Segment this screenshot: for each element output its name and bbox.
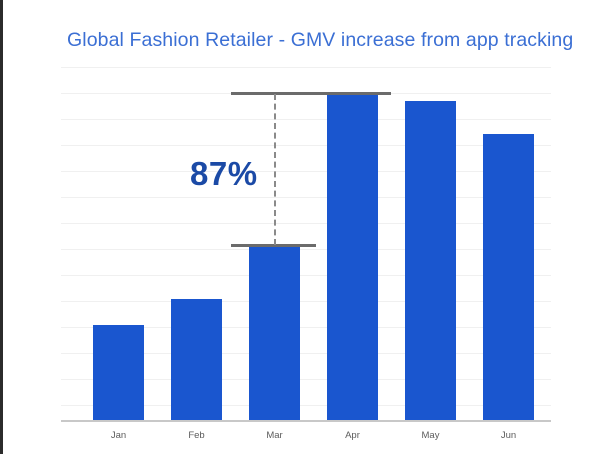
x-tick-label-jan: Jan [93,430,144,441]
bar-feb[interactable] [171,299,222,420]
bars-layer [61,67,551,421]
plot-area: 87% Jan Feb Mar Apr May Jun [61,67,551,421]
bar-jun[interactable] [483,134,534,420]
x-tick-label-may: May [405,430,456,441]
bar-may[interactable] [405,101,456,420]
x-tick-label-mar: Mar [249,430,300,441]
x-tick-label-jun: Jun [483,430,534,441]
chart-title: Global Fashion Retailer - GMV increase f… [67,29,573,52]
chart-card: Global Fashion Retailer - GMV increase f… [0,0,614,454]
bar-apr[interactable] [327,95,378,420]
bar-jan[interactable] [93,325,144,420]
x-tick-label-feb: Feb [171,430,222,441]
x-tick-label-apr: Apr [327,430,378,441]
bar-mar[interactable] [249,247,300,420]
